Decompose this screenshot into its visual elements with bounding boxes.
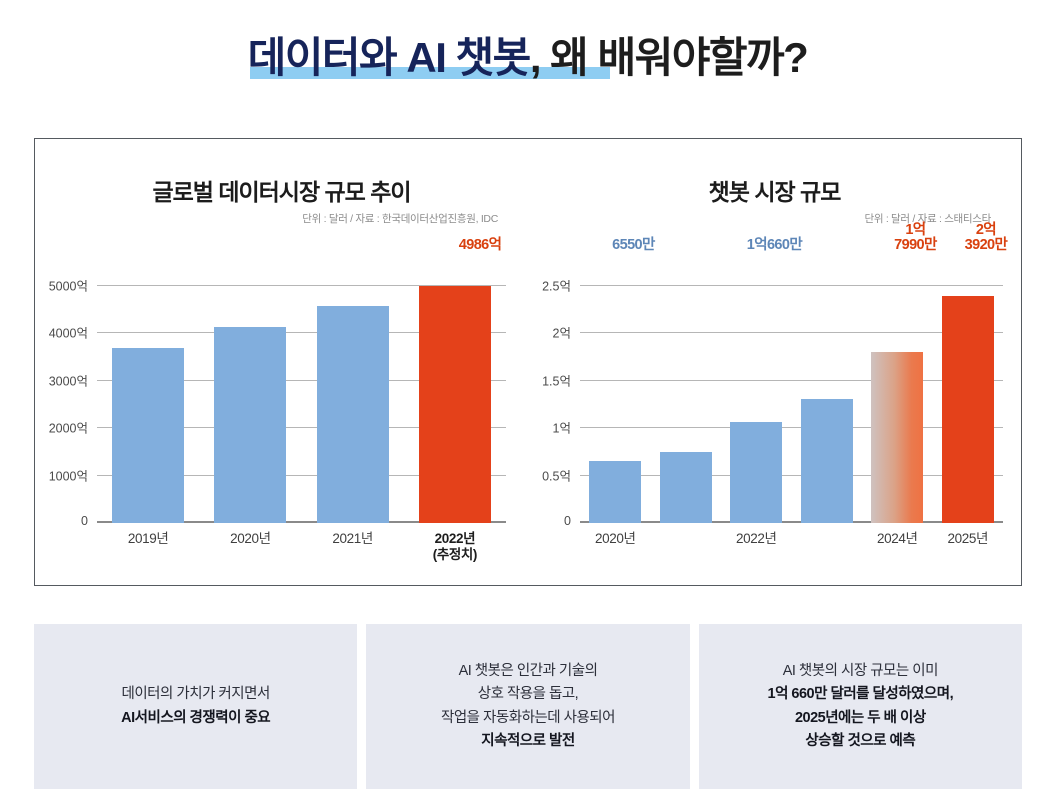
- bar[interactable]: 4986억: [419, 286, 491, 523]
- x-axis-tick: 2021년: [317, 531, 389, 564]
- bar[interactable]: 3684억: [112, 348, 184, 523]
- charts-panel: 글로벌 데이터시장 규모 추이 단위 : 달러 / 자료 : 한국데이터산업진흥…: [34, 138, 1022, 586]
- summary-card-line: AI 챗봇은 인간과 기술의: [459, 663, 598, 679]
- chart-title-left: 글로벌 데이터시장 규모 추이: [35, 173, 528, 207]
- infographic-page: 데이터와 AI 챗봇, 왜 배워야할까? 글로벌 데이터시장 규모 추이 단위 …: [0, 0, 1055, 800]
- x-axis-tick: 2022년 (추정치): [419, 531, 491, 564]
- bar-value-label: 6550만: [589, 238, 677, 254]
- y-axis-tick: 1.5억: [542, 370, 571, 389]
- bar-slot: [660, 257, 712, 523]
- y-axis-tick: 0: [81, 514, 88, 528]
- y-axis-tick: 2.5억: [542, 275, 571, 294]
- bar[interactable]: 4125억: [214, 327, 286, 523]
- summary-card-line: AI 챗봇의 시장 규모는 이미: [783, 663, 938, 679]
- summary-cards: 데이터의 가치가 커지면서AI서비스의 경쟁력이 중요AI 챗봇은 인간과 기술…: [34, 624, 1022, 789]
- summary-card: AI 챗봇은 인간과 기술의상호 작용을 돕고,작업을 자동화하는데 사용되어지…: [366, 624, 689, 789]
- page-title: 데이터와 AI 챗봇, 왜 배워야할까?: [0, 34, 1055, 81]
- bar-slot: 4563억: [317, 257, 389, 523]
- y-axis-tick: 1억: [553, 418, 571, 437]
- summary-card: AI 챗봇의 시장 규모는 이미1억 660만 달러를 달성하였으며,2025년…: [699, 624, 1022, 789]
- y-axis-tick: 5000억: [49, 275, 88, 294]
- title-text: 데이터와 AI 챗봇, 왜 배워야할까?: [248, 34, 808, 81]
- bar-slot: [801, 257, 853, 523]
- y-axis-tick: 1000억: [49, 465, 88, 484]
- summary-card-text: AI 챗봇의 시장 규모는 이미1억 660만 달러를 달성하였으며,2025년…: [768, 660, 954, 754]
- title-rest-text: , 왜 배워야할까?: [530, 34, 808, 81]
- title-inner: 데이터와 AI 챗봇, 왜 배워야할까?: [248, 34, 808, 81]
- x-axis-tick: 2020년: [589, 531, 641, 547]
- bar-group: 3684억4125억4563억4986억: [97, 257, 506, 523]
- bar-slot: 1억 7990만: [871, 257, 923, 523]
- bar[interactable]: [660, 452, 712, 523]
- y-axis-tick: 3000억: [49, 370, 88, 389]
- chart-chatbot-market: 챗봇 시장 규모 단위 : 달러 / 자료 : 스태티스타 00.5억1억1.5…: [528, 139, 1021, 585]
- summary-card-line: 상호 작용을 돕고,: [478, 686, 578, 702]
- x-axis-tick: 2020년: [214, 531, 286, 564]
- x-axis-tick: [660, 531, 712, 547]
- bar-slot: 1억660만: [730, 257, 782, 523]
- x-axis-tick: 2022년: [730, 531, 782, 547]
- summary-card-line: AI서비스의 경쟁력이 중요: [121, 710, 270, 726]
- bar[interactable]: 1억 7990만: [871, 352, 923, 523]
- x-axis-tick: 2024년: [871, 531, 923, 547]
- summary-card-text: 데이터의 가치가 커지면서AI서비스의 경쟁력이 중요: [121, 683, 270, 730]
- x-axis-tick: 2025년: [942, 531, 994, 547]
- y-axis-tick: 4000억: [49, 323, 88, 342]
- x-axis-right: 2020년2022년2024년2025년: [580, 531, 1003, 547]
- bar[interactable]: [801, 399, 853, 523]
- x-axis-tick: 2019년: [112, 531, 184, 564]
- title-highlight-text: 데이터와 AI 챗봇: [248, 34, 530, 81]
- chart-data-market: 글로벌 데이터시장 규모 추이 단위 : 달러 / 자료 : 한국데이터산업진흥…: [35, 139, 528, 585]
- summary-card-line: 2025년에는 두 배 이상: [795, 710, 926, 726]
- summary-card-line: 지속적으로 발전: [481, 733, 574, 749]
- bar-value-label: 2억 3920만: [942, 223, 1030, 254]
- bar[interactable]: 1억660만: [730, 422, 782, 523]
- charts-row: 글로벌 데이터시장 규모 추이 단위 : 달러 / 자료 : 한국데이터산업진흥…: [35, 139, 1021, 585]
- bar-group: 6550만1억660만1억 7990만2억 3920만: [580, 257, 1003, 523]
- summary-card-text: AI 챗봇은 인간과 기술의상호 작용을 돕고,작업을 자동화하는데 사용되어지…: [441, 660, 615, 754]
- bar-slot: 4125억: [214, 257, 286, 523]
- bar-slot: 2억 3920만: [942, 257, 994, 523]
- y-axis-tick: 2억: [553, 323, 571, 342]
- chart-subtitle-left: 단위 : 달러 / 자료 : 한국데이터산업진흥원, IDC: [302, 211, 498, 226]
- x-axis-left: 2019년2020년2021년2022년 (추정치): [97, 531, 506, 564]
- x-axis-tick: [801, 531, 853, 547]
- bar[interactable]: 6550만: [589, 461, 641, 523]
- y-axis-tick: 0: [564, 514, 571, 528]
- bar[interactable]: 2억 3920만: [942, 296, 994, 523]
- y-axis-tick: 0.5억: [542, 465, 571, 484]
- bar-value-label: 4986억: [419, 238, 541, 254]
- summary-card-line: 상승할 것으로 예측: [805, 733, 915, 749]
- bar[interactable]: 4563억: [317, 306, 389, 523]
- summary-card: 데이터의 가치가 커지면서AI서비스의 경쟁력이 중요: [34, 624, 357, 789]
- bar-value-label: 1억660만: [730, 238, 818, 254]
- chart-title-right: 챗봇 시장 규모: [528, 173, 1021, 207]
- plot-area-right: 00.5억1억1.5억2억2.5억6550만1억660만1억 7990만2억 3…: [580, 257, 1003, 523]
- summary-card-line: 1억 660만 달러를 달성하였으며,: [768, 686, 954, 702]
- bar-slot: 4986억: [419, 257, 491, 523]
- bar-slot: 6550만: [589, 257, 641, 523]
- bar-slot: 3684억: [112, 257, 184, 523]
- summary-card-line: 작업을 자동화하는데 사용되어: [441, 710, 615, 726]
- plot-area-left: 01000억2000억3000억4000억5000억3684억4125억4563…: [97, 257, 506, 523]
- summary-card-line: 데이터의 가치가 커지면서: [122, 686, 270, 702]
- y-axis-tick: 2000억: [49, 418, 88, 437]
